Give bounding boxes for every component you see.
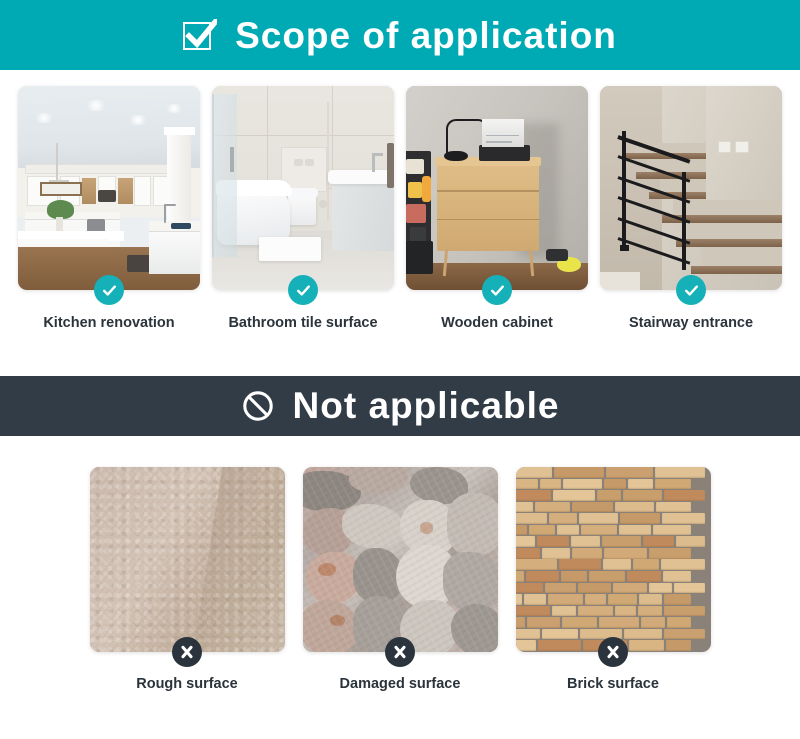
tile-caption: Wooden cabinet (441, 316, 553, 332)
wooden-cabinet-photo (406, 86, 588, 290)
tile-caption: Bathroom tile surface (228, 316, 377, 332)
tile-caption: Brick surface (567, 677, 659, 693)
brick-wall-photo (516, 467, 711, 652)
scope-items-row: Kitchen renovation (0, 70, 800, 332)
check-badge (482, 275, 512, 305)
tile-caption: Kitchen renovation (43, 316, 174, 332)
cross-badge (172, 637, 202, 667)
scope-banner-title: Scope of application (235, 17, 617, 54)
check-badge (94, 275, 124, 305)
scope-tile-cabinet: Wooden cabinet (406, 86, 588, 332)
not-applicable-banner: Not applicable (0, 376, 800, 436)
scope-tile-bathroom: Bathroom tile surface (212, 86, 394, 332)
cross-badge (598, 637, 628, 667)
scope-tile-kitchen: Kitchen renovation (18, 86, 200, 332)
bathroom-photo (212, 86, 394, 290)
rough-stucco-photo (90, 467, 285, 652)
not-tile-rough: Rough surface (90, 467, 285, 693)
tile-caption: Rough surface (136, 677, 238, 693)
tile-caption: Damaged surface (340, 677, 461, 693)
not-applicable-banner-title: Not applicable (293, 387, 560, 424)
tile-caption: Stairway entrance (629, 316, 753, 332)
not-applicable-items-row: Rough surface (0, 436, 800, 693)
stairway-photo (600, 86, 782, 290)
not-tile-brick: Brick surface (516, 467, 711, 693)
check-badge (676, 275, 706, 305)
check-box-icon (183, 18, 217, 52)
check-badge (288, 275, 318, 305)
scope-banner: Scope of application (0, 0, 800, 70)
cross-badge (385, 637, 415, 667)
scope-tile-stairway: Stairway entrance (600, 86, 782, 332)
peeling-paint-photo (303, 467, 498, 652)
not-tile-damaged: Damaged surface (303, 467, 498, 693)
prohibition-icon (241, 389, 275, 423)
kitchen-photo (18, 86, 200, 290)
